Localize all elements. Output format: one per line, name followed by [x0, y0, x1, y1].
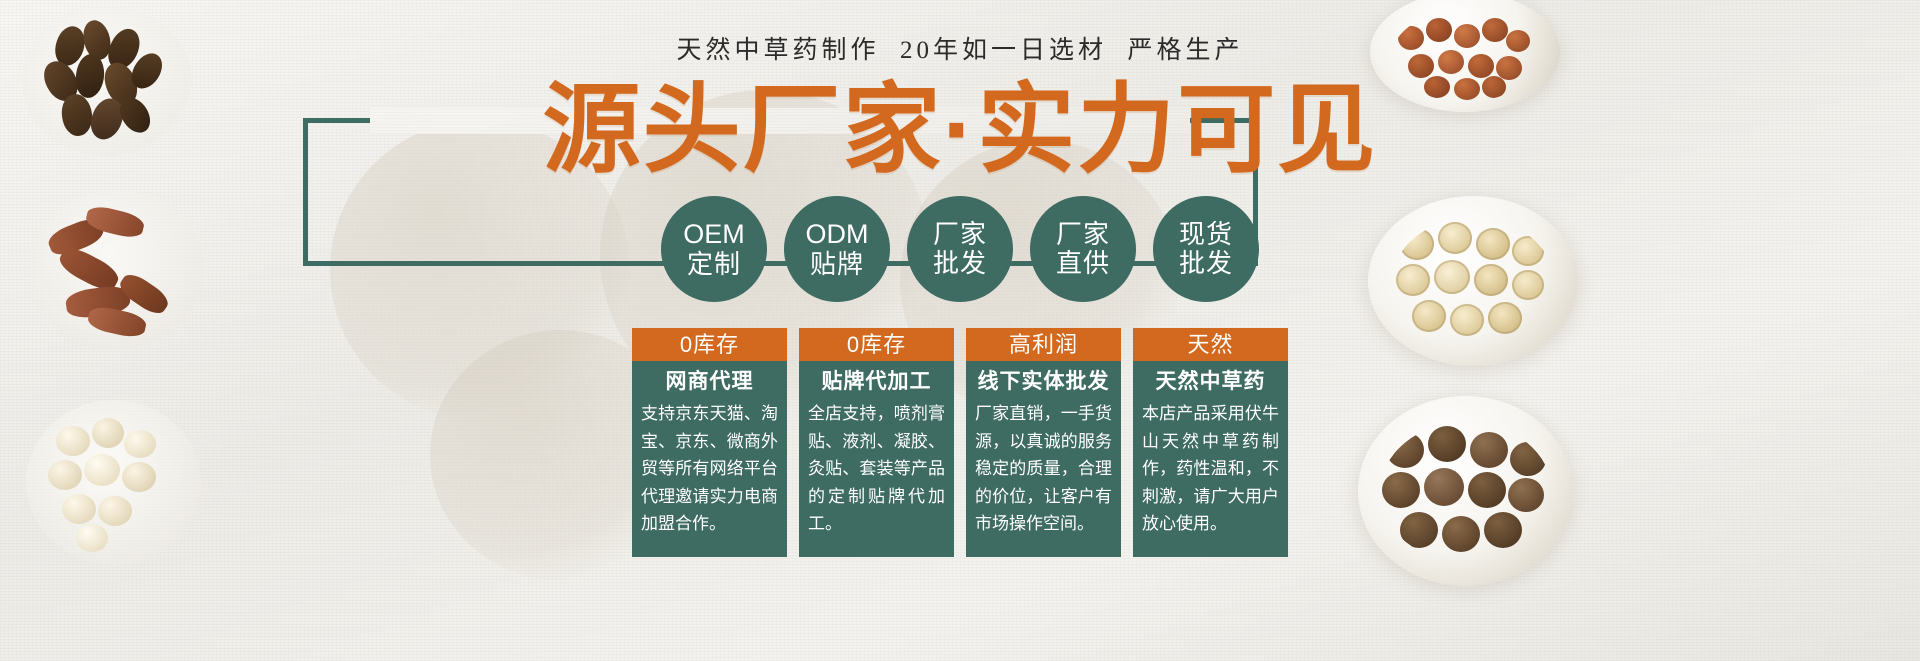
service-circle-in-stock-wholesale[interactable]: 现货 批发 — [1153, 196, 1259, 302]
promo-banner: 天然中草药制作 20年如一日选材 严格生产 源头厂家·实力可见 OEM 定制 O… — [0, 0, 1920, 661]
feature-card-text: 全店支持，喷剂膏贴、液剂、凝胶、灸贴、套装等产品的定制贴牌代加工。 — [808, 400, 945, 538]
service-circle-row: OEM 定制 ODM 贴牌 厂家 批发 厂家 直供 现货 批发 — [0, 196, 1920, 302]
service-circle-label-secondary: 定制 — [687, 250, 741, 279]
banner-tagline: 天然中草药制作 20年如一日选材 严格生产 — [0, 30, 1920, 66]
feature-card-body: 网商代理 支持京东天猫、淘宝、京东、微商外贸等所有网络平台代理邀请实力电商加盟合… — [632, 361, 787, 557]
feature-card-online-agency[interactable]: 0库存 网商代理 支持京东天猫、淘宝、京东、微商外贸等所有网络平台代理邀请实力电… — [632, 328, 787, 557]
feature-card-badge: 0库存 — [632, 328, 787, 361]
feature-card-oem-processing[interactable]: 0库存 贴牌代加工 全店支持，喷剂膏贴、液剂、凝胶、灸贴、套装等产品的定制贴牌代… — [799, 328, 954, 557]
feature-card-title: 网商代理 — [641, 368, 778, 396]
feature-card-badge: 天然 — [1133, 328, 1288, 361]
service-circle-label-primary: 现货 — [1179, 220, 1233, 249]
service-circle-label-primary: OEM — [683, 219, 745, 249]
service-circle-factory-wholesale[interactable]: 厂家 批发 — [907, 196, 1013, 302]
service-circle-oem[interactable]: OEM 定制 — [661, 196, 767, 302]
feature-card-text: 支持京东天猫、淘宝、京东、微商外贸等所有网络平台代理邀请实力电商加盟合作。 — [641, 400, 778, 538]
service-circle-label-secondary: 贴牌 — [810, 250, 864, 279]
feature-card-body: 贴牌代加工 全店支持，喷剂膏贴、液剂、凝胶、灸贴、套装等产品的定制贴牌代加工。 — [799, 361, 954, 557]
feature-card-title: 线下实体批发 — [975, 368, 1112, 396]
feature-card-badge: 0库存 — [799, 328, 954, 361]
feature-card-body: 天然中草药 本店产品采用伏牛山天然中草药制作，药性温和，不刺激，请广大用户放心使… — [1133, 361, 1288, 557]
service-circle-label-secondary: 直供 — [1056, 249, 1110, 278]
feature-card-text: 本店产品采用伏牛山天然中草药制作，药性温和，不刺激，请广大用户放心使用。 — [1142, 400, 1279, 538]
feature-card-natural-herbs[interactable]: 天然 天然中草药 本店产品采用伏牛山天然中草药制作，药性温和，不刺激，请广大用户… — [1133, 328, 1288, 557]
feature-card-text: 厂家直销，一手货源，以真诚的服务稳定的质量，合理的价位，让客户有市场操作空间。 — [975, 400, 1112, 538]
feature-card-title: 贴牌代加工 — [808, 368, 945, 396]
service-circle-label-secondary: 批发 — [1179, 249, 1233, 278]
page-title: 源头厂家·实力可见 — [0, 78, 1920, 180]
service-circle-factory-direct[interactable]: 厂家 直供 — [1030, 196, 1136, 302]
service-circle-label-primary: 厂家 — [933, 220, 987, 249]
feature-card-row: 0库存 网商代理 支持京东天猫、淘宝、京东、微商外贸等所有网络平台代理邀请实力电… — [0, 328, 1920, 557]
feature-card-badge: 高利润 — [966, 328, 1121, 361]
service-circle-label-secondary: 批发 — [933, 249, 987, 278]
feature-card-body: 线下实体批发 厂家直销，一手货源，以真诚的服务稳定的质量，合理的价位，让客户有市… — [966, 361, 1121, 557]
feature-card-title: 天然中草药 — [1142, 368, 1279, 396]
service-circle-label-primary: 厂家 — [1056, 220, 1110, 249]
feature-card-offline-wholesale[interactable]: 高利润 线下实体批发 厂家直销，一手货源，以真诚的服务稳定的质量，合理的价位，让… — [966, 328, 1121, 557]
service-circle-label-primary: ODM — [806, 219, 869, 249]
service-circle-odm[interactable]: ODM 贴牌 — [784, 196, 890, 302]
